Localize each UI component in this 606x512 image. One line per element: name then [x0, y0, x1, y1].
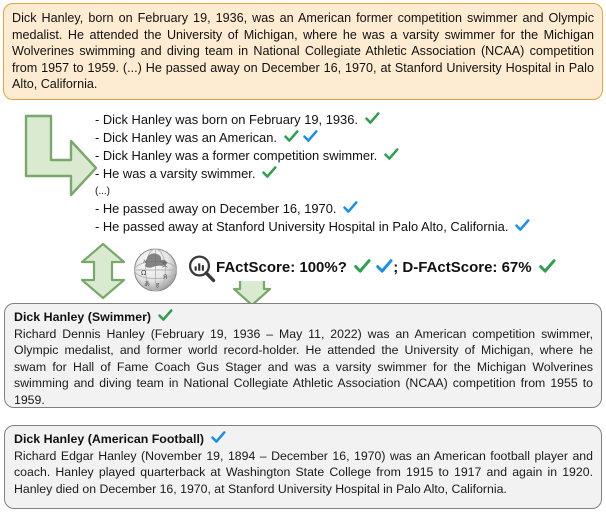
check-green-icon — [365, 112, 380, 125]
evidence-box-swimmer: Dick Hanley (Swimmer) Richard Dennis Han… — [4, 303, 602, 408]
evidence-body: Richard Edgar Hanley (November 19, 1894 … — [14, 448, 593, 497]
check-green-icon — [384, 148, 399, 161]
svg-text:あ: あ — [144, 281, 150, 288]
check-blue-icon — [376, 259, 393, 274]
evidence-body: Richard Dennis Hanley (February 19, 1936… — [14, 326, 593, 408]
factscore-label: FActScore: 100%? — [216, 259, 347, 276]
list-item: - He passed away on December 16, 1970. — [95, 200, 600, 218]
evidence-title-text: Dick Hanley (Swimmer) — [14, 310, 151, 324]
double-arrow-vertical-icon — [79, 242, 127, 300]
evidence-title: Dick Hanley (Swimmer) — [14, 309, 593, 325]
generation-box: Dick Hanley, born on February 19, 1936, … — [3, 3, 603, 100]
dfactscore-label: D-FActScore: 67% — [402, 259, 531, 276]
check-blue-icon — [515, 219, 530, 232]
check-green-icon — [354, 259, 371, 274]
atomic-facts-list: - Dick Hanley was born on February 19, 1… — [95, 111, 600, 237]
list-item: - He passed away at Stanford University … — [95, 218, 600, 236]
list-item: - Dick Hanley was an American. — [95, 129, 600, 147]
generation-text: Dick Hanley, born on February 19, 1936, … — [12, 10, 594, 93]
evidence-title: Dick Hanley (American Football) — [14, 431, 593, 447]
fact-text: - He passed away at Stanford University … — [95, 219, 508, 234]
check-blue-icon — [303, 130, 318, 143]
list-item: - Dick Hanley was a former competition s… — [95, 147, 600, 165]
fact-text: (...) — [95, 186, 110, 197]
svg-text:Я: Я — [163, 274, 167, 281]
list-item: - Dick Hanley was born on February 19, 1… — [95, 111, 600, 129]
check-green-icon — [262, 166, 277, 179]
fact-text: - He passed away on December 16, 1970. — [95, 201, 336, 216]
svg-text:Ω: Ω — [141, 269, 147, 277]
svg-text:文: 文 — [162, 261, 168, 269]
elbow-arrow-icon — [23, 113, 99, 199]
score-separator: ; — [393, 259, 398, 276]
fact-text: - He was a varsity swimmer. — [95, 166, 255, 181]
list-item-ellipsis: (...) — [95, 183, 600, 200]
svg-text:א: א — [143, 258, 147, 265]
check-green-icon — [158, 309, 173, 322]
check-green-icon — [539, 259, 556, 274]
fact-text: - Dick Hanley was an American. — [95, 130, 277, 145]
check-blue-icon — [343, 201, 358, 214]
check-blue-icon — [211, 431, 226, 444]
score-row: FActScore: 100%? ; D-FActScore: 67% — [216, 258, 556, 278]
wikipedia-globe-icon: Ω 文 Я あ א ह — [132, 246, 179, 293]
list-item: - He was a varsity swimmer. — [95, 165, 600, 183]
fact-text: - Dick Hanley was a former competition s… — [95, 148, 377, 163]
magnifier-barchart-icon — [187, 254, 217, 284]
check-green-icon — [284, 130, 299, 143]
figure-canvas: Dick Hanley, born on February 19, 1936, … — [0, 0, 606, 512]
evidence-title-text: Dick Hanley (American Football) — [14, 432, 204, 446]
fact-text: - Dick Hanley was born on February 19, 1… — [95, 112, 358, 127]
evidence-box-american-football: Dick Hanley (American Football) Richard … — [4, 425, 602, 509]
